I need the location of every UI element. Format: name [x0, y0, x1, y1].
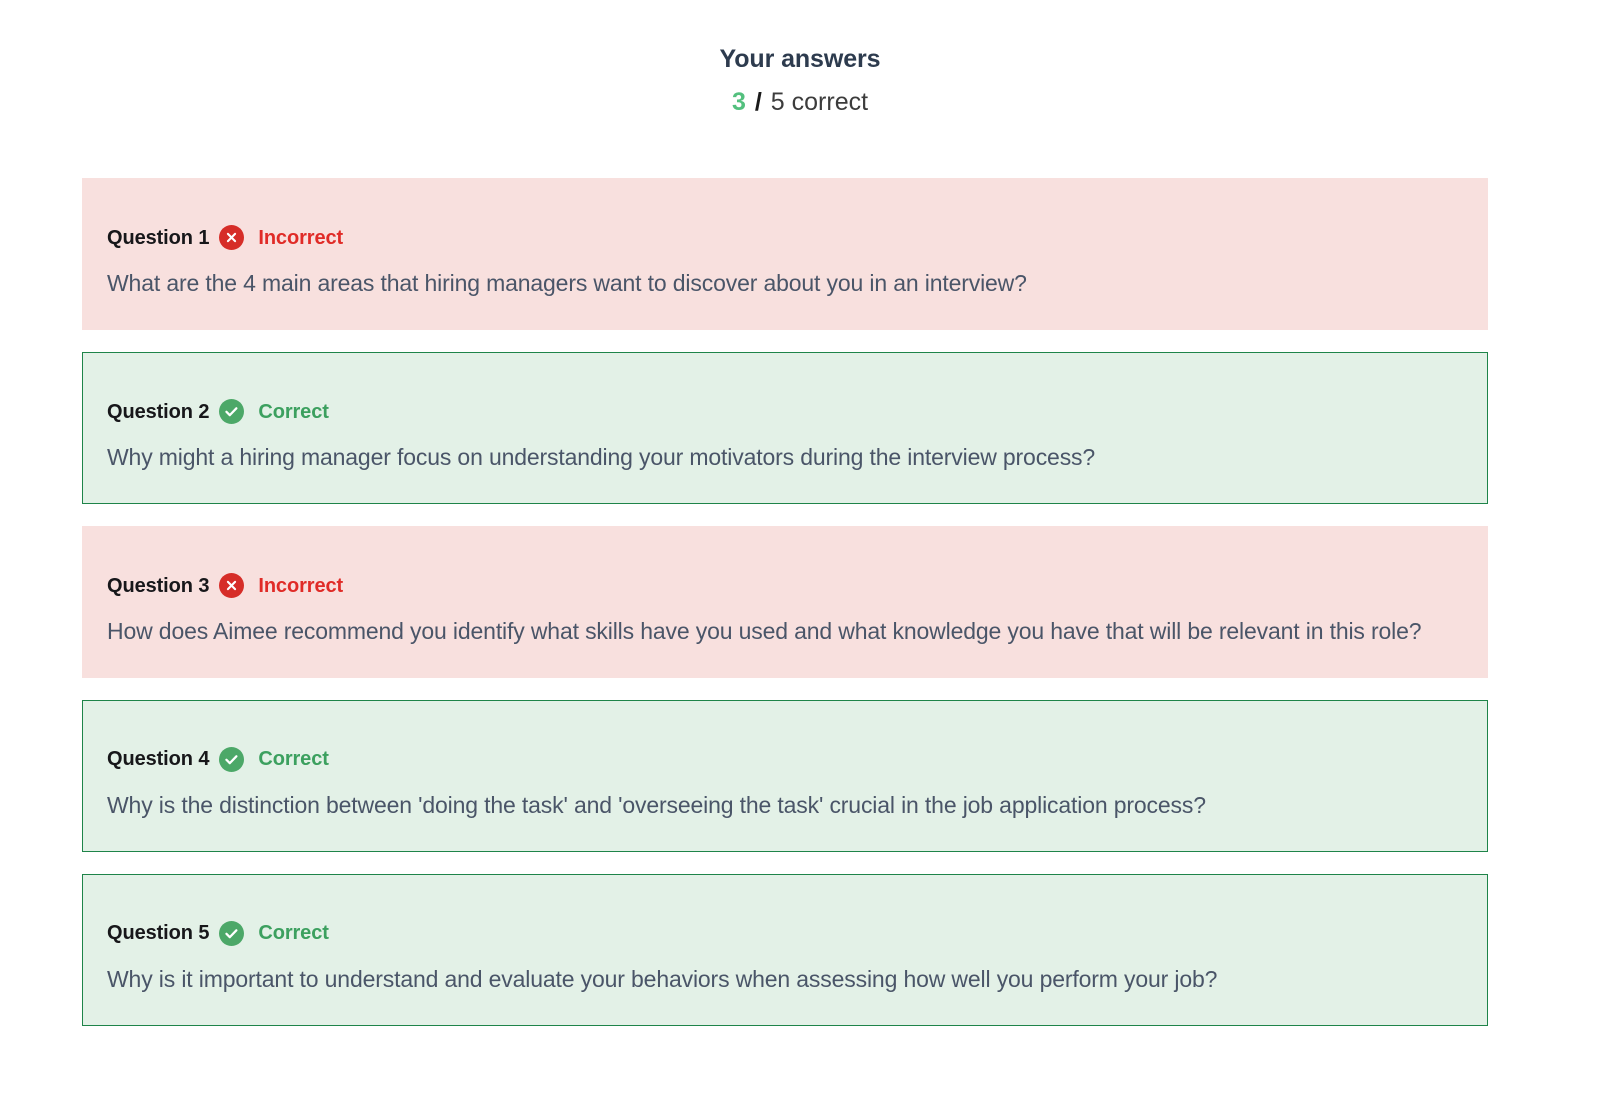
x-circle-icon [219, 225, 244, 250]
question-label: Question 5 [107, 923, 209, 943]
score-total-label: 5 correct [771, 87, 868, 118]
page-title: Your answers [0, 44, 1600, 74]
question-header: Question 5Correct [107, 921, 1463, 946]
question-header: Question 1Incorrect [107, 225, 1463, 250]
question-block: Question 2CorrectWhy might a hiring mana… [82, 352, 1488, 504]
check-circle-icon [219, 399, 244, 424]
question-block: Question 5CorrectWhy is it important to … [82, 874, 1488, 1026]
question-text: How does Aimee recommend you identify wh… [107, 617, 1447, 647]
x-circle-icon [219, 573, 244, 598]
question-header: Question 4Correct [107, 747, 1463, 772]
question-header: Question 3Incorrect [107, 573, 1463, 598]
score-summary: 3 / 5 correct [0, 87, 1600, 118]
status-badge: Correct [258, 923, 328, 943]
question-label: Question 2 [107, 402, 209, 422]
score-separator: / [755, 87, 762, 118]
question-text: Why is it important to understand and ev… [107, 965, 1447, 995]
status-badge: Incorrect [258, 228, 343, 248]
question-block: Question 1IncorrectWhat are the 4 main a… [82, 178, 1488, 330]
question-list: Question 1IncorrectWhat are the 4 main a… [0, 178, 1600, 1025]
results-header: Your answers 3 / 5 correct [0, 0, 1600, 118]
question-text: What are the 4 main areas that hiring ma… [107, 269, 1447, 299]
check-circle-icon [219, 921, 244, 946]
quiz-results-page: Your answers 3 / 5 correct Question 1Inc… [0, 0, 1600, 1105]
question-label: Question 3 [107, 576, 209, 596]
check-circle-icon [219, 747, 244, 772]
score-correct-count: 3 [732, 87, 746, 118]
question-text: Why is the distinction between 'doing th… [107, 791, 1447, 821]
question-text: Why might a hiring manager focus on unde… [107, 443, 1447, 473]
question-block: Question 4CorrectWhy is the distinction … [82, 700, 1488, 852]
status-badge: Incorrect [258, 576, 343, 596]
status-badge: Correct [258, 749, 328, 769]
question-block: Question 3IncorrectHow does Aimee recomm… [82, 526, 1488, 678]
question-label: Question 1 [107, 228, 209, 248]
question-label: Question 4 [107, 749, 209, 769]
status-badge: Correct [258, 402, 328, 422]
question-header: Question 2Correct [107, 399, 1463, 424]
